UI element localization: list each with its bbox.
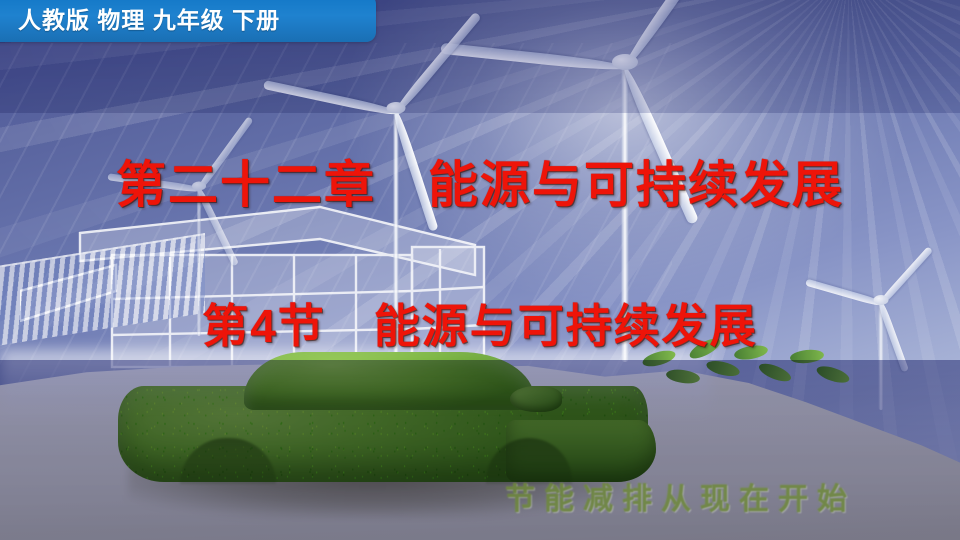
section-title: 第4节 能源与可持续发展	[0, 290, 960, 356]
slide-canvas: 节能减排从现在开始 人教版 物理 九年级 下册 第二十二章 能源与可持续发展 第…	[0, 0, 960, 540]
eco-slogan: 节能减排从现在开始	[505, 474, 856, 518]
chapter-title: 第二十二章 能源与可持续发展	[0, 145, 960, 217]
textbook-badge: 人教版 物理 九年级 下册	[0, 0, 376, 42]
textbook-badge-label: 人教版 物理 九年级 下册	[18, 1, 280, 35]
